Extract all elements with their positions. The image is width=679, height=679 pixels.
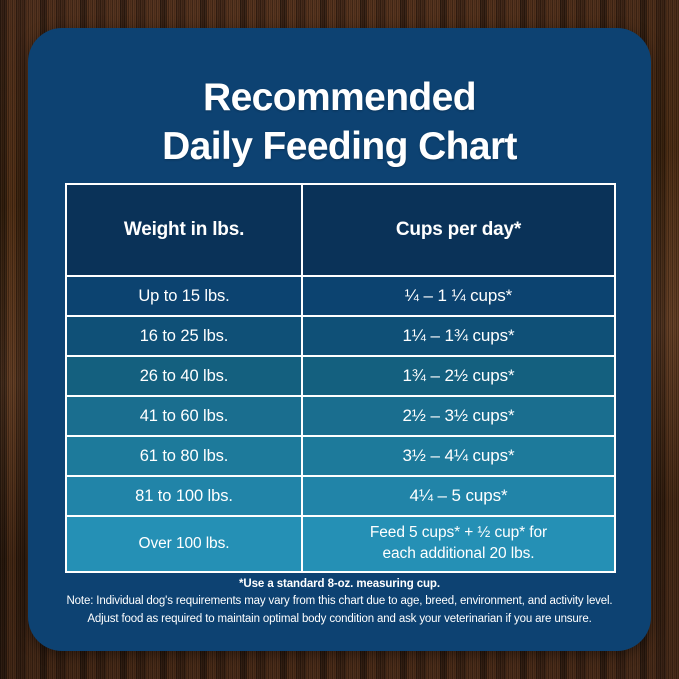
cell-weight: 61 to 80 lbs. (66, 436, 302, 476)
footnote-adjust: Adjust food as required to maintain opti… (42, 611, 637, 628)
cell-cups: 2½ – 3½ cups* (302, 396, 615, 436)
cell-cups-line-1: Feed 5 cups* + ½ cup* for (370, 524, 547, 541)
cell-weight: Over 100 lbs. (66, 516, 302, 572)
footnotes: *Use a standard 8-oz. measuring cup. Not… (42, 576, 637, 628)
footnote-note: Note: Individual dog's requirements may … (42, 593, 637, 610)
title-line-1: Recommended (28, 74, 651, 123)
table-row: 26 to 40 lbs. 1¾ – 2½ cups* (66, 356, 615, 396)
table-row: Up to 15 lbs. ¼ – 1 ¼ cups* (66, 276, 615, 316)
footnote-measuring-cup: *Use a standard 8-oz. measuring cup. (42, 576, 637, 593)
cell-cups: ¼ – 1 ¼ cups* (302, 276, 615, 316)
cell-cups-line-2: each additional 20 lbs. (383, 545, 535, 562)
cell-cups: 1¾ – 2½ cups* (302, 356, 615, 396)
column-header-cups: Cups per day* (302, 184, 615, 276)
title-line-2: Daily Feeding Chart (28, 123, 651, 172)
table-row: Over 100 lbs. Feed 5 cups* + ½ cup* for … (66, 516, 615, 572)
column-header-weight: Weight in lbs. (66, 184, 302, 276)
table-row: 41 to 60 lbs. 2½ – 3½ cups* (66, 396, 615, 436)
cell-weight: 26 to 40 lbs. (66, 356, 302, 396)
cell-cups: 4¼ – 5 cups* (302, 476, 615, 516)
table-row: 61 to 80 lbs. 3½ – 4¼ cups* (66, 436, 615, 476)
table-row: 16 to 25 lbs. 1¼ – 1¾ cups* (66, 316, 615, 356)
cell-weight: 41 to 60 lbs. (66, 396, 302, 436)
feeding-table: Weight in lbs. Cups per day* Up to 15 lb… (65, 183, 616, 573)
cell-weight: Up to 15 lbs. (66, 276, 302, 316)
page-title: Recommended Daily Feeding Chart (28, 74, 651, 172)
cell-weight: 16 to 25 lbs. (66, 316, 302, 356)
feeding-chart-card: Recommended Daily Feeding Chart Weight i… (28, 28, 651, 651)
cell-weight: 81 to 100 lbs. (66, 476, 302, 516)
cell-cups: Feed 5 cups* + ½ cup* for each additiona… (302, 516, 615, 572)
cell-cups: 3½ – 4¼ cups* (302, 436, 615, 476)
table-header-row: Weight in lbs. Cups per day* (66, 184, 615, 276)
table-row: 81 to 100 lbs. 4¼ – 5 cups* (66, 476, 615, 516)
cell-cups: 1¼ – 1¾ cups* (302, 316, 615, 356)
